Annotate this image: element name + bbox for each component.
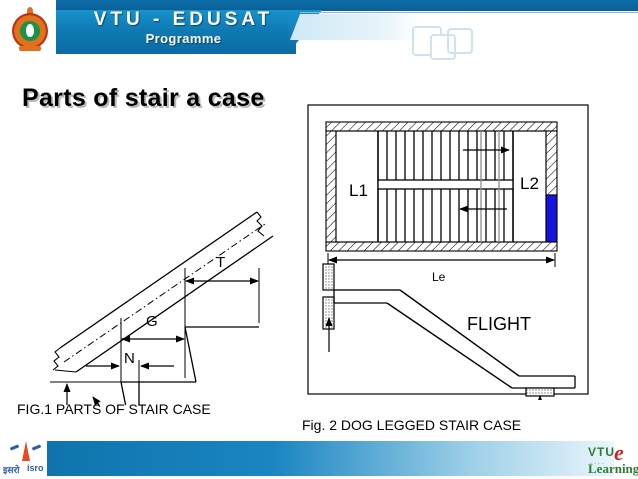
label-landing-left: L1 — [349, 181, 368, 200]
vtu-emblem-icon — [10, 5, 50, 51]
section-view: FLIGHT — [323, 264, 575, 400]
header-subtitle: Programme — [76, 31, 291, 46]
vtu-logo-text: VTU — [588, 445, 615, 459]
learning-logo-text: Learning — [588, 461, 638, 477]
mid-landing-band — [378, 180, 513, 189]
label-effective-span: Le — [432, 270, 446, 284]
header-title: VTU - EDUSAT — [76, 9, 291, 31]
decor-square-icon-3 — [447, 28, 473, 54]
figure2-caption: Fig. 2 DOG LEGGED STAIR CASE — [302, 417, 521, 433]
figure-parts-of-staircase: T G N R W θ — [14, 150, 299, 405]
isro-logo-text-hindi: इसरो — [3, 463, 20, 476]
slide-header: VTU - EDUSAT Programme — [0, 0, 638, 62]
header-light-band — [290, 14, 420, 40]
label-landing-right: L2 — [520, 174, 539, 193]
vtu-elearning-logo-icon: VTU e .... Learning — [588, 440, 638, 478]
slide-footer: इसरो isro VTU e .... Learning — [0, 438, 638, 479]
figure-dog-legged-staircase: L1 L2 Le — [307, 104, 589, 400]
effective-span-dimension: Le — [328, 253, 555, 284]
figure1-drawing: T G N R W θ — [14, 150, 299, 405]
header-underline — [300, 12, 638, 13]
label-flight: FLIGHT — [467, 314, 531, 334]
figure1-caption: FIG.1 PARTS OF STAIR CASE — [17, 401, 211, 417]
plan-view: L1 L2 — [326, 122, 557, 251]
label-nosing: N — [124, 350, 135, 367]
label-tread: T — [216, 254, 225, 271]
blue-wall-element — [546, 195, 557, 242]
isro-logo-icon: इसरो isro — [2, 438, 50, 479]
label-going: G — [146, 313, 158, 330]
isro-logo-text-latin: isro — [27, 463, 44, 473]
figure2-drawing: L1 L2 Le — [307, 104, 589, 400]
footer-gradient-bar — [47, 441, 614, 476]
page-title: Parts of stair a case — [22, 84, 265, 113]
support-block-top — [323, 264, 334, 290]
support-block-right — [526, 388, 554, 396]
